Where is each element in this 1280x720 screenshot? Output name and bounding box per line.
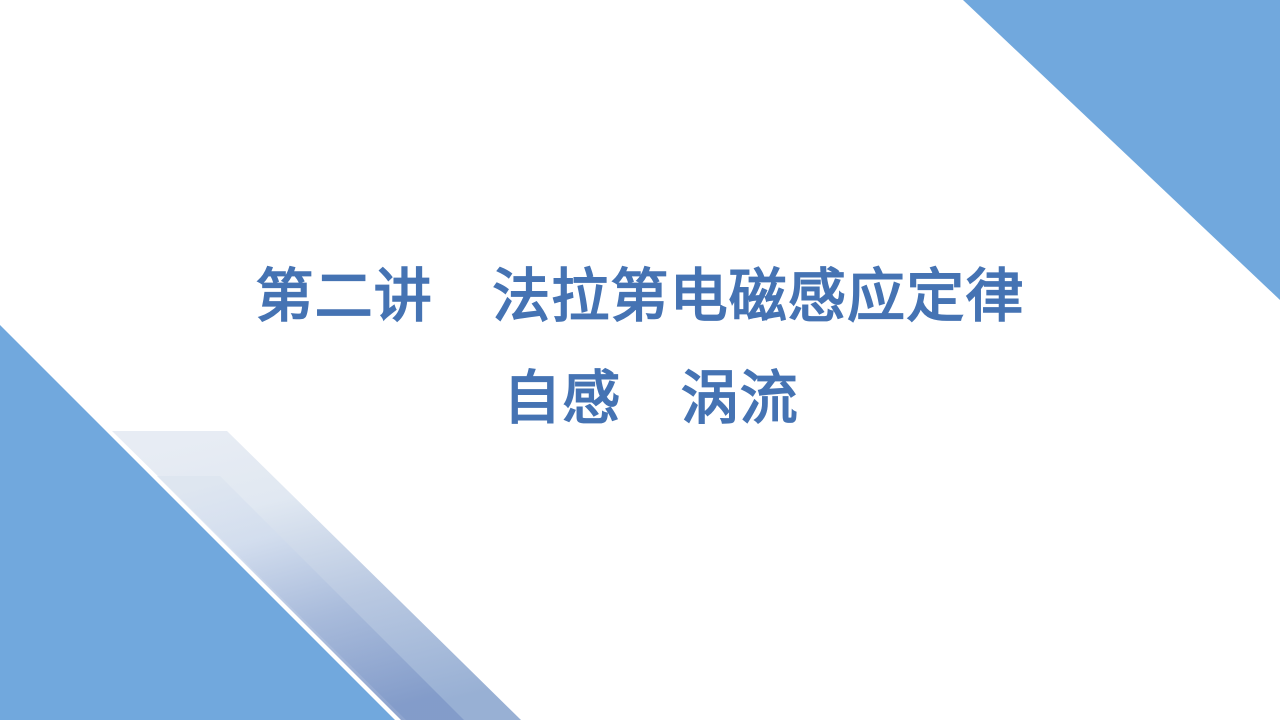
- inner-chevron-band: [157, 476, 464, 720]
- outer-chevron-band: [112, 431, 521, 720]
- title-slide: 第二讲 法拉第电磁感应定律 自感 涡流: [0, 0, 1280, 720]
- slide-title-line-1: 第二讲 法拉第电磁感应定律: [0, 268, 1280, 326]
- top-right-accent-triangle: [963, 0, 1280, 300]
- slide-title-block: 第二讲 法拉第电磁感应定律 自感 涡流: [0, 268, 1280, 428]
- slide-title-line-2: 自感 涡流: [0, 370, 1280, 428]
